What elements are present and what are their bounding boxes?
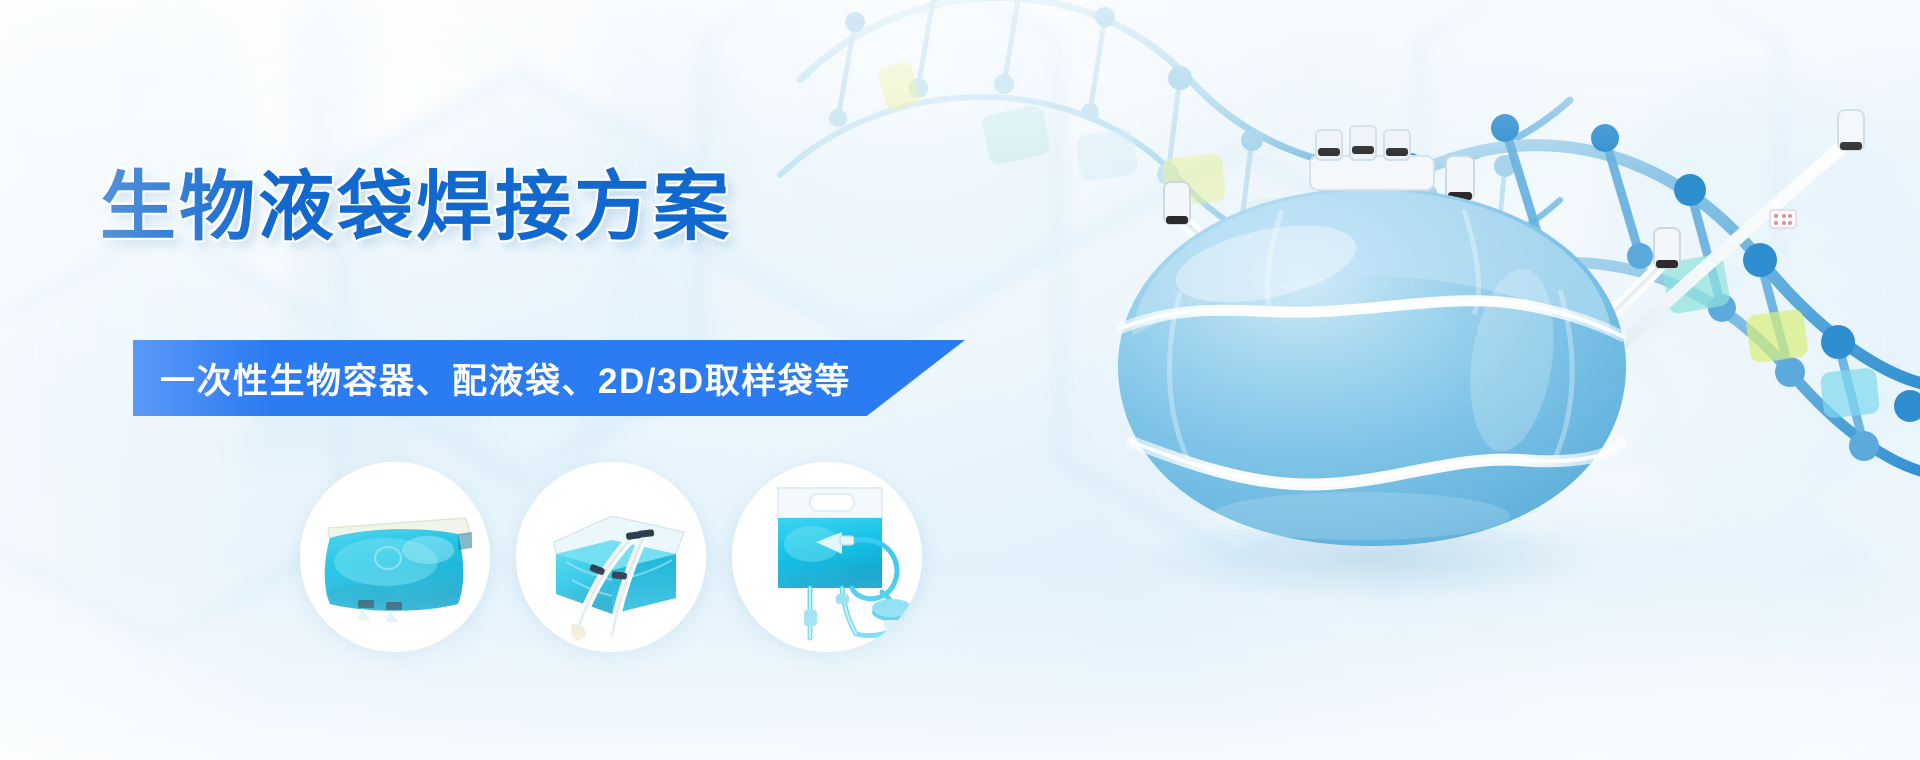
page-title: 生物液袋焊接方案 bbox=[100, 168, 1020, 249]
dna-helix-icon bbox=[760, 0, 1920, 520]
sampling-bag-icon[interactable] bbox=[732, 462, 922, 652]
bioprocess-bag-icon bbox=[1060, 60, 1680, 620]
product-circle-list bbox=[300, 462, 922, 652]
cubic-bio-container-icon[interactable] bbox=[516, 462, 706, 652]
flat-bio-bag-icon[interactable] bbox=[300, 462, 490, 652]
subtitle-text: 一次性生物容器、配液袋、2D/3D取样袋等 bbox=[133, 353, 851, 404]
subtitle-ribbon: 一次性生物容器、配液袋、2D/3D取样袋等 bbox=[133, 340, 965, 416]
hero-banner: 生物液袋焊接方案 一次性生物容器、配液袋、2D/3D取样袋等 bbox=[0, 0, 1920, 760]
headline-block: 生物液袋焊接方案 bbox=[100, 168, 1020, 249]
